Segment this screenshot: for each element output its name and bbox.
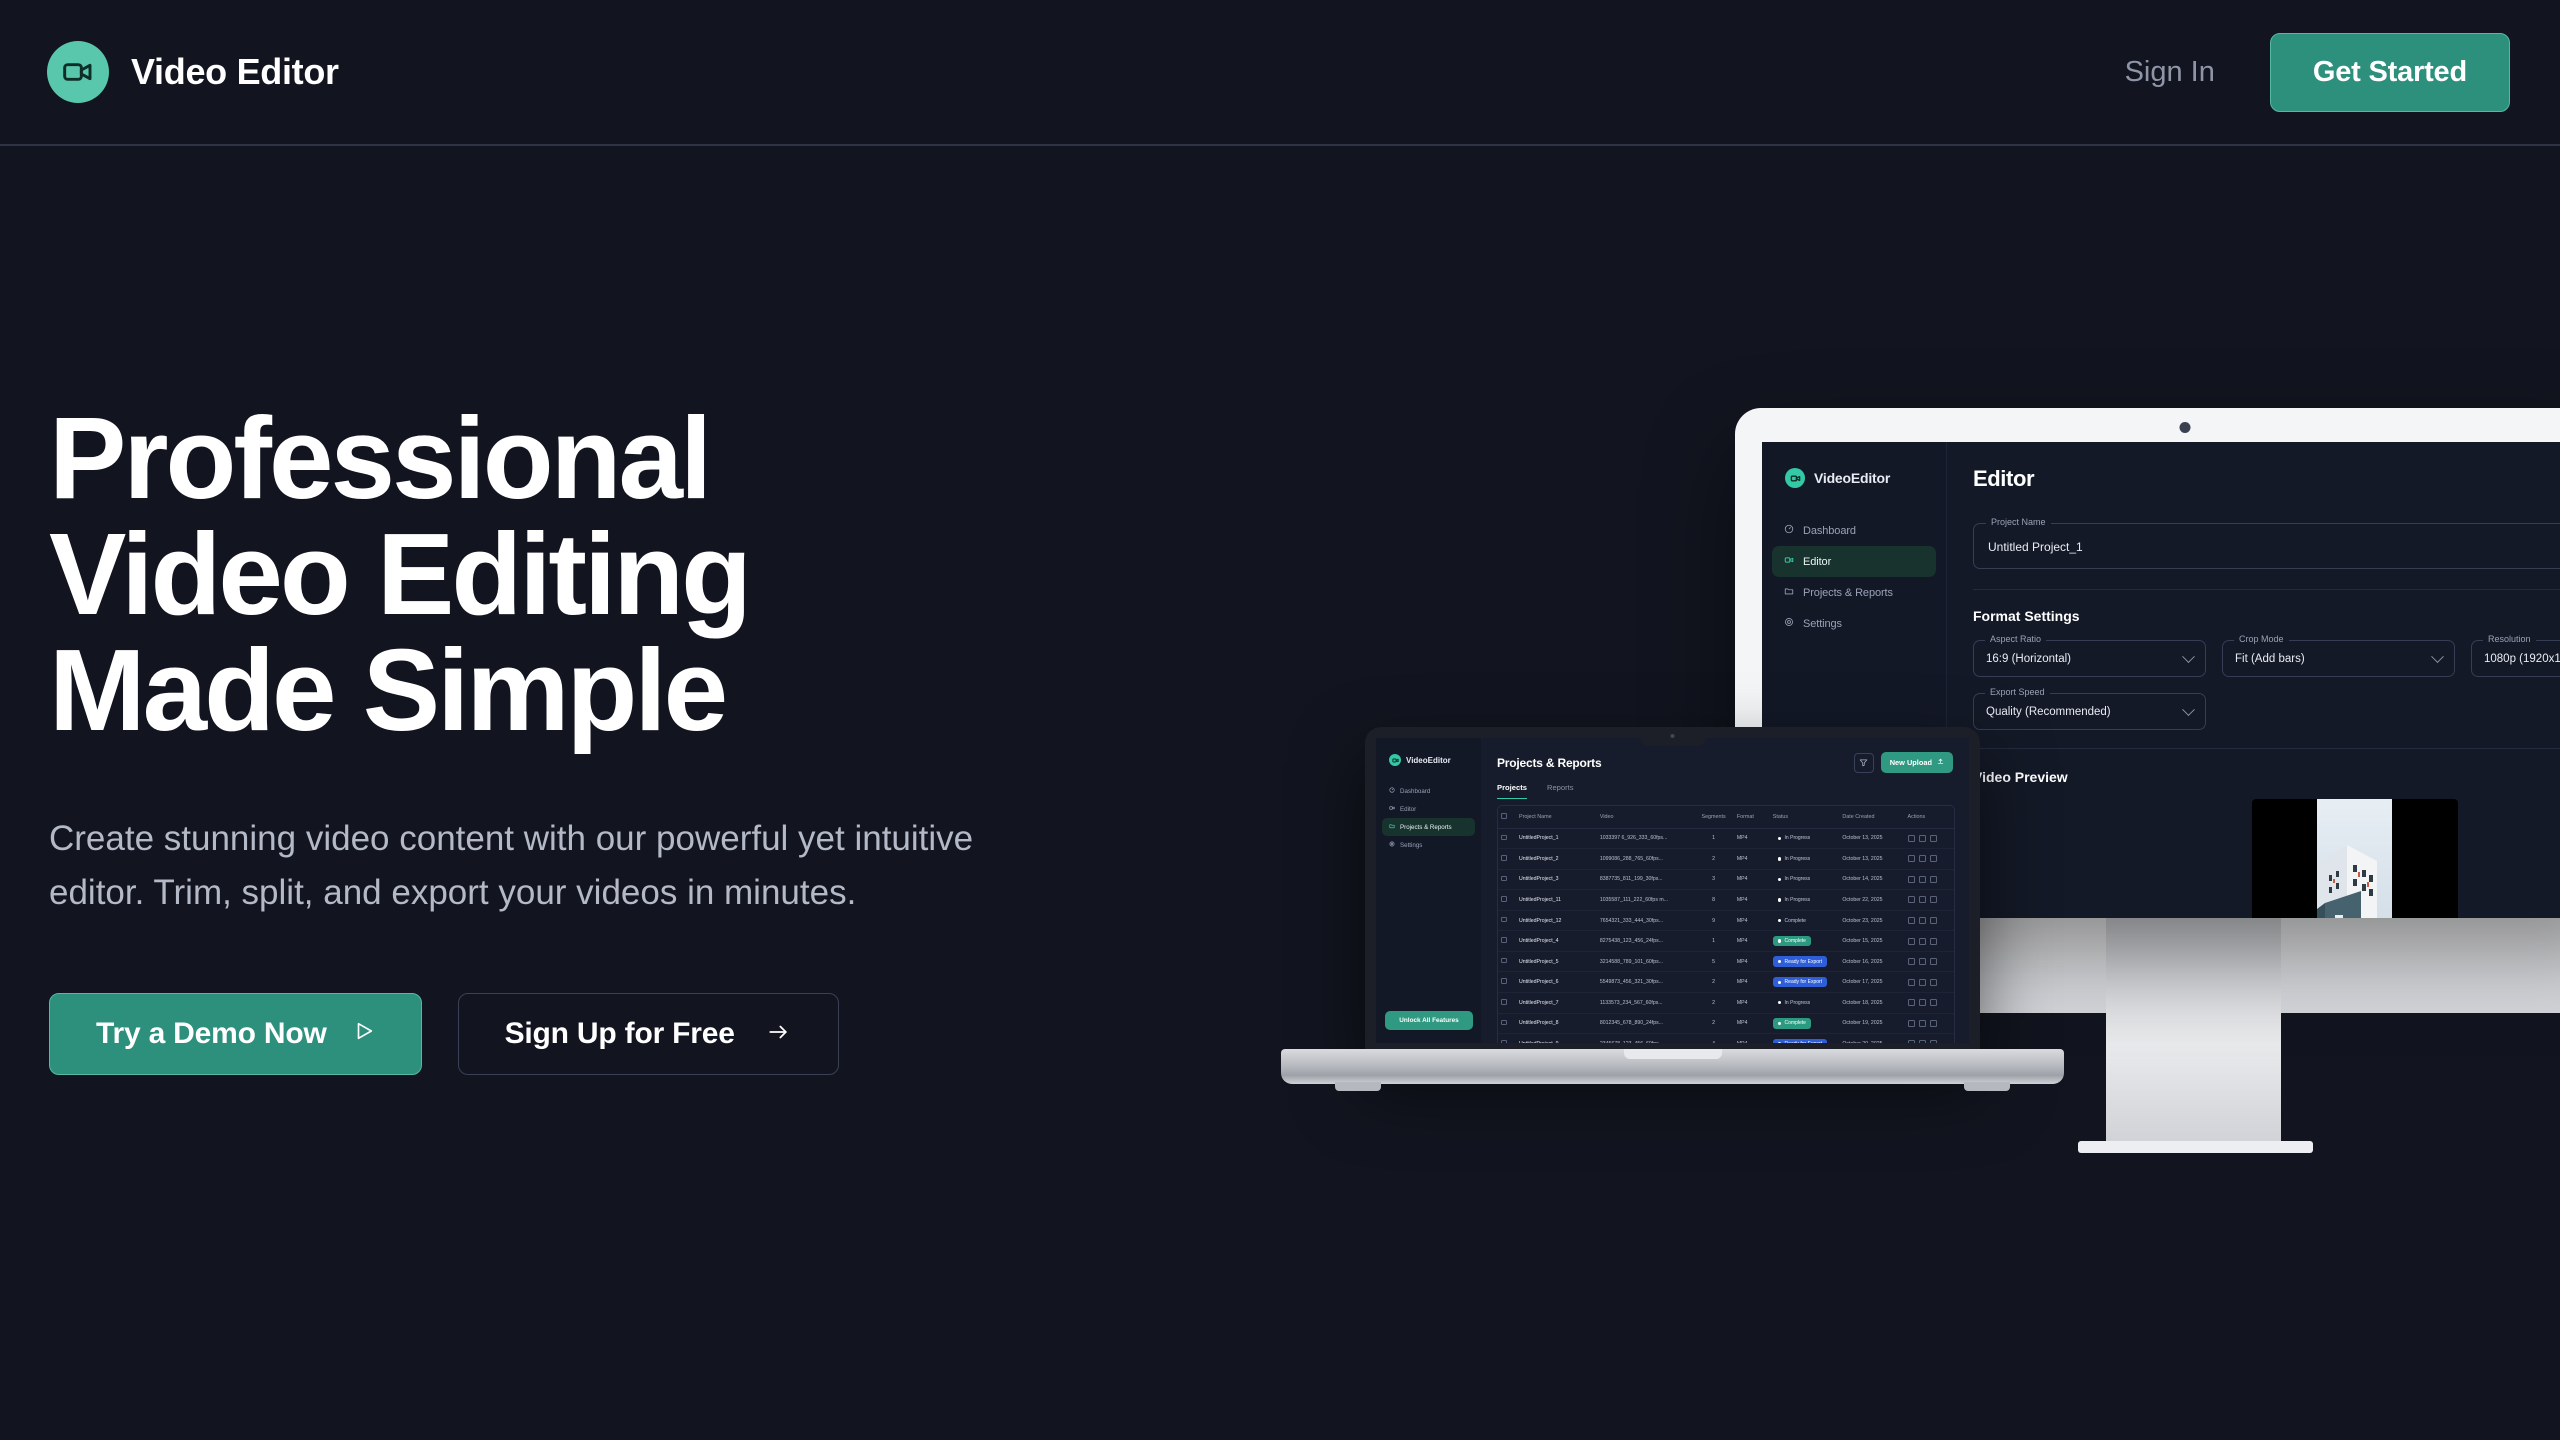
gear-icon (1784, 617, 1794, 630)
cell-status: In Progress (1770, 828, 1840, 849)
edit-icon[interactable] (1908, 938, 1915, 945)
delete-icon[interactable] (1930, 1040, 1937, 1043)
cell-actions[interactable] (1905, 1034, 1954, 1043)
cell-date-created: October 16, 2025 (1839, 951, 1904, 972)
arrow-right-icon (765, 1017, 792, 1051)
folder-icon (1784, 586, 1794, 599)
export-icon[interactable] (1919, 855, 1926, 862)
checkbox-icon[interactable] (1501, 1020, 1507, 1026)
cell-format: MP4 (1734, 972, 1770, 993)
export-icon[interactable] (1919, 938, 1926, 945)
cell-format: MP4 (1734, 849, 1770, 870)
row-checkbox[interactable] (1498, 828, 1516, 849)
funnel-icon[interactable] (1854, 753, 1874, 773)
edit-icon[interactable] (1908, 876, 1915, 883)
cell-video: 7654321_333_444_30fps... (1597, 910, 1694, 931)
hero-cta-row: Try a Demo Now Sign Up for Free (49, 993, 1109, 1075)
chevron-down-icon (2431, 650, 2444, 663)
cell-segments: 2 (1693, 1013, 1733, 1034)
video-camera-icon (1784, 555, 1794, 568)
sidebar-label: Editor (1400, 806, 1416, 813)
cell-project-name: UntitledProject_11 (1516, 890, 1597, 911)
row-checkbox[interactable] (1498, 951, 1516, 972)
aspect-ratio-value: 16:9 (Horizontal) (1986, 653, 2071, 665)
status-badge: Ready for Export (1773, 956, 1827, 966)
crop-mode-value: Fit (Add bars) (2235, 653, 2305, 665)
sidebar-item-settings[interactable]: Settings (1382, 836, 1475, 854)
resolution-select[interactable]: Resolution 1080p (1920x1080) (2471, 640, 2560, 677)
cell-project-name: UntitledProject_2 (1516, 849, 1597, 870)
sidebar-label: Settings (1803, 618, 1842, 630)
crop-mode-select[interactable]: Crop Mode Fit (Add bars) (2222, 640, 2455, 677)
checkbox-icon[interactable] (1501, 813, 1507, 819)
delete-icon[interactable] (1930, 835, 1937, 842)
projects-tabs: Projects Reports (1497, 783, 1953, 799)
get-started-button[interactable]: Get Started (2270, 33, 2510, 112)
tab-projects[interactable]: Projects (1497, 783, 1527, 799)
sidebar-label: Dashboard (1803, 525, 1856, 537)
cell-segments: 1 (1693, 828, 1733, 849)
status-dot-icon (1778, 1001, 1781, 1004)
cell-status: In Progress (1770, 849, 1840, 870)
laptop-feet (1281, 1082, 2064, 1091)
cell-actions[interactable] (1905, 910, 1954, 931)
row-checkbox[interactable] (1498, 1013, 1516, 1034)
sidebar-label: Projects & Reports (1400, 824, 1452, 831)
cell-project-name: UntitledProject_6 (1516, 972, 1597, 993)
cell-date-created: October 20, 2025 (1839, 1034, 1904, 1043)
projects-brand: VideoEditor (1376, 738, 1481, 766)
cell-segments: 5 (1693, 951, 1733, 972)
edit-icon[interactable] (1908, 958, 1915, 965)
cell-date-created: October 22, 2025 (1839, 890, 1904, 911)
cell-video: 1099086_288_765_60fps... (1597, 849, 1694, 870)
export-icon[interactable] (1919, 1040, 1926, 1043)
sidebar-item-dashboard[interactable]: Dashboard (1772, 515, 1936, 546)
cell-date-created: October 13, 2025 (1839, 828, 1904, 849)
try-demo-label: Try a Demo Now (96, 1017, 327, 1051)
status-dot-icon (1778, 857, 1781, 860)
cell-format: MP4 (1734, 828, 1770, 849)
cell-video: 3214588_789_101_60fps... (1597, 951, 1694, 972)
hero-subtitle: Create stunning video content with our p… (49, 812, 1109, 921)
projects-main: Projects & Reports New Upload (1481, 738, 1969, 1043)
cell-actions[interactable] (1905, 1013, 1954, 1034)
folder-icon (1389, 823, 1395, 831)
projects-table-body: UntitledProject_11033397 6_926_333_60fps… (1498, 828, 1954, 1043)
table-row[interactable]: UntitledProject_88012345_678_890_24fps..… (1498, 1013, 1954, 1034)
crop-mode-label: Crop Mode (2234, 634, 2289, 644)
export-icon[interactable] (1919, 999, 1926, 1006)
cell-status: Ready for Export (1770, 972, 1840, 993)
checkbox-icon[interactable] (1501, 896, 1507, 902)
table-row[interactable]: UntitledProject_71133573_234_567_60fps..… (1498, 993, 1954, 1014)
export-icon[interactable] (1919, 917, 1926, 924)
projects-topbar: Projects & Reports New Upload (1481, 738, 1969, 773)
status-badge: In Progress (1773, 854, 1815, 864)
cell-format: MP4 (1734, 890, 1770, 911)
monitor-stand-neck (2106, 918, 2281, 1148)
cell-status: Complete (1770, 1013, 1840, 1034)
cell-actions[interactable] (1905, 869, 1954, 890)
row-checkbox[interactable] (1498, 869, 1516, 890)
cell-video: 2345678_123_456_60fps... (1597, 1034, 1694, 1043)
laptop-base-notch (1624, 1049, 1722, 1059)
col-segments[interactable]: Segments (1693, 806, 1733, 828)
export-icon[interactable] (1919, 835, 1926, 842)
col-status[interactable]: Status (1770, 806, 1840, 828)
cell-segments: 9 (1693, 910, 1733, 931)
cell-status: In Progress (1770, 869, 1840, 890)
status-dot-icon (1778, 1042, 1781, 1043)
checkbox-icon[interactable] (1501, 958, 1507, 964)
projects-nav: Dashboard Editor Projects & Reports Sett… (1376, 782, 1481, 854)
delete-icon[interactable] (1930, 938, 1937, 945)
cell-actions[interactable] (1905, 972, 1954, 993)
export-icon[interactable] (1919, 958, 1926, 965)
status-dot-icon (1778, 919, 1781, 922)
sign-up-free-button[interactable]: Sign Up for Free (458, 993, 839, 1075)
cell-segments: 2 (1693, 972, 1733, 993)
video-camera-icon (1785, 468, 1805, 488)
video-preview-title: Video Preview (1973, 769, 2068, 785)
editor-nav: Dashboard Editor Projects & Reports (1762, 515, 1946, 639)
projects-table: Project Name Video Segments Format Statu… (1498, 806, 1954, 1043)
checkbox-icon[interactable] (1501, 855, 1507, 861)
header-actions: Sign In Get Started (2125, 33, 2510, 112)
cell-actions[interactable] (1905, 931, 1954, 952)
edit-icon[interactable] (1908, 917, 1915, 924)
cell-segments: 1 (1693, 931, 1733, 952)
video-camera-icon (47, 41, 109, 103)
unlock-all-features-button[interactable]: Unlock All Features (1385, 1011, 1473, 1030)
table-row[interactable]: UntitledProject_21099086_288_765_60fps..… (1498, 849, 1954, 870)
sign-in-link[interactable]: Sign In (2125, 56, 2215, 89)
sidebar-label: Projects & Reports (1803, 587, 1893, 599)
checkbox-icon[interactable] (1501, 999, 1507, 1005)
status-badge: In Progress (1773, 998, 1815, 1008)
edit-icon[interactable] (1908, 1040, 1915, 1043)
cell-project-name: UntitledProject_7 (1516, 993, 1597, 1014)
delete-icon[interactable] (1930, 855, 1937, 862)
cell-project-name: UntitledProject_4 (1516, 931, 1597, 952)
cell-status: Ready for Export (1770, 951, 1840, 972)
col-date-created[interactable]: Date Created (1839, 806, 1904, 828)
status-dot-icon (1778, 1022, 1781, 1025)
sidebar-item-editor[interactable]: Editor (1382, 800, 1475, 818)
status-dot-icon (1778, 939, 1781, 942)
play-triangle-icon (353, 1017, 375, 1051)
cell-format: MP4 (1734, 1013, 1770, 1034)
cell-actions[interactable] (1905, 993, 1954, 1014)
resolution-value: 1080p (1920x1080) (2484, 653, 2560, 665)
checkbox-icon[interactable] (1501, 937, 1507, 943)
cell-actions[interactable] (1905, 890, 1954, 911)
project-name-label: Project Name (1986, 517, 2051, 527)
table-row[interactable]: UntitledProject_11033397 6_926_333_60fps… (1498, 828, 1954, 849)
sidebar-label: Dashboard (1400, 788, 1430, 795)
site-header: Video Editor Sign In Get Started (0, 0, 2560, 146)
project-name-value: Untitled Project_1 (1988, 540, 2083, 554)
delete-icon[interactable] (1930, 896, 1937, 903)
status-dot-icon (1778, 837, 1781, 840)
row-checkbox[interactable] (1498, 993, 1516, 1014)
table-row[interactable]: UntitledProject_48275438_123_456_24fps..… (1498, 931, 1954, 952)
status-dot-icon (1778, 878, 1781, 881)
sidebar-item-projects-reports[interactable]: Projects & Reports (1382, 818, 1475, 836)
col-project-name[interactable]: Project Name (1516, 806, 1597, 828)
format-settings-selects: Aspect Ratio 16:9 (Horizontal) Crop Mode… (1973, 640, 2560, 730)
sidebar-item-settings[interactable]: Settings (1772, 608, 1936, 639)
divider (1973, 748, 2560, 749)
video-preview-header: Video Preview Video player size (1973, 769, 2560, 785)
sidebar-item-editor[interactable]: Editor (1772, 546, 1936, 577)
cell-status: In Progress (1770, 993, 1840, 1014)
aspect-ratio-label: Aspect Ratio (1985, 634, 2046, 644)
cell-segments: 4 (1693, 1034, 1733, 1043)
editor-page-title: Editor (1973, 466, 2034, 492)
export-icon[interactable] (1919, 979, 1926, 986)
cell-video: 1033397 6_926_333_60fps... (1597, 828, 1694, 849)
row-checkbox[interactable] (1498, 972, 1516, 993)
projects-sidebar: VideoEditor Dashboard Editor Projects & … (1376, 738, 1481, 1043)
cell-format: MP4 (1734, 931, 1770, 952)
cell-video: 8012345_678_890_24fps... (1597, 1013, 1694, 1034)
gear-icon (1389, 841, 1395, 849)
monitor-camera-icon (2180, 422, 2191, 433)
project-name-field[interactable]: Project Name Untitled Project_1 (1973, 523, 2560, 569)
sidebar-item-projects-reports[interactable]: Projects & Reports (1772, 577, 1936, 608)
gauge-icon (1784, 524, 1794, 537)
sidebar-label: Editor (1803, 556, 1831, 568)
projects-table-wrap: Project Name Video Segments Format Statu… (1497, 805, 1955, 1043)
table-row[interactable]: UntitledProject_127654321_333_444_30fps.… (1498, 910, 1954, 931)
cell-format: MP4 (1734, 1034, 1770, 1043)
editor-brand: VideoEditor (1762, 442, 1946, 488)
cell-actions[interactable] (1905, 849, 1954, 870)
cell-segments: 8 (1693, 890, 1733, 911)
cell-project-name: UntitledProject_9 (1516, 1034, 1597, 1043)
row-checkbox[interactable] (1498, 890, 1516, 911)
col-format[interactable]: Format (1734, 806, 1770, 828)
editor-topbar: Editor Save Exp (1947, 442, 2560, 501)
try-demo-button[interactable]: Try a Demo Now (49, 993, 422, 1075)
brand-name: Video Editor (131, 51, 339, 93)
checkbox-icon[interactable] (1501, 1040, 1507, 1043)
row-checkbox[interactable] (1498, 910, 1516, 931)
divider (1973, 589, 2560, 590)
table-row[interactable]: UntitledProject_92345678_123_456_60fps..… (1498, 1034, 1954, 1043)
status-badge: Ready for Export (1773, 977, 1827, 987)
col-video[interactable]: Video (1597, 806, 1694, 828)
projects-brand-label: VideoEditor (1406, 756, 1451, 765)
video-camera-icon (1389, 754, 1401, 766)
status-dot-icon (1778, 981, 1781, 984)
format-settings-title: Format Settings (1973, 608, 2560, 624)
export-icon[interactable] (1919, 876, 1926, 883)
col-select-all[interactable] (1498, 806, 1516, 828)
cell-status: Ready for Export (1770, 1034, 1840, 1043)
table-row[interactable]: UntitledProject_38387735_811_199_30fps..… (1498, 869, 1954, 890)
delete-icon[interactable] (1930, 876, 1937, 883)
status-badge: In Progress (1773, 833, 1815, 843)
delete-icon[interactable] (1930, 1020, 1937, 1027)
hero-copy: Professional Video Editing Made Simple C… (49, 400, 1109, 1075)
cell-project-name: UntitledProject_5 (1516, 951, 1597, 972)
cell-date-created: October 19, 2025 (1839, 1013, 1904, 1034)
video-camera-icon (1389, 805, 1395, 813)
export-icon[interactable] (1919, 896, 1926, 903)
delete-icon[interactable] (1930, 999, 1937, 1006)
tab-reports[interactable]: Reports (1547, 783, 1574, 799)
cell-video: 1035587_111_222_60fps m... (1597, 890, 1694, 911)
cell-date-created: October 14, 2025 (1839, 869, 1904, 890)
cell-project-name: UntitledProject_1 (1516, 828, 1597, 849)
table-row[interactable]: UntitledProject_65549873_456_321_30fps..… (1498, 972, 1954, 993)
cell-project-name: UntitledProject_8 (1516, 1013, 1597, 1034)
checkbox-icon[interactable] (1501, 978, 1507, 984)
gauge-icon (1389, 787, 1395, 795)
projects-page-title: Projects & Reports (1497, 756, 1601, 770)
table-header-row: Project Name Video Segments Format Statu… (1498, 806, 1954, 828)
cell-video: 5549873_456_321_30fps... (1597, 972, 1694, 993)
projects-top-actions: New Upload (1854, 752, 1953, 773)
edit-icon[interactable] (1908, 999, 1915, 1006)
edit-icon[interactable] (1908, 835, 1915, 842)
status-dot-icon (1778, 898, 1781, 901)
table-row[interactable]: UntitledProject_111035587_111_222_60fps … (1498, 890, 1954, 911)
cell-project-name: UntitledProject_3 (1516, 869, 1597, 890)
cell-video: 1133573_234_567_60fps... (1597, 993, 1694, 1014)
sidebar-label: Settings (1400, 842, 1422, 849)
cell-format: MP4 (1734, 910, 1770, 931)
cell-segments: 2 (1693, 993, 1733, 1014)
row-checkbox[interactable] (1498, 931, 1516, 952)
cell-segments: 2 (1693, 849, 1733, 870)
edit-icon[interactable] (1908, 896, 1915, 903)
cell-status: In Progress (1770, 890, 1840, 911)
laptop-device: VideoEditor Dashboard Editor Projects & … (1365, 727, 1980, 1072)
delete-icon[interactable] (1930, 917, 1937, 924)
status-badge: Complete (1773, 1018, 1811, 1028)
cell-format: MP4 (1734, 951, 1770, 972)
delete-icon[interactable] (1930, 979, 1937, 986)
chevron-down-icon (2182, 650, 2195, 663)
status-badge: Complete (1773, 915, 1811, 925)
page-title: Professional Video Editing Made Simple (49, 400, 1109, 748)
cell-status: Complete (1770, 931, 1840, 952)
checkbox-icon[interactable] (1501, 917, 1507, 923)
resolution-label: Resolution (2483, 634, 2536, 644)
cell-video: 8387735_811_199_30fps... (1597, 869, 1694, 890)
cell-status: Complete (1770, 910, 1840, 931)
brand-logo[interactable]: Video Editor (47, 41, 339, 103)
cell-format: MP4 (1734, 869, 1770, 890)
cell-segments: 3 (1693, 869, 1733, 890)
checkbox-icon[interactable] (1501, 876, 1507, 882)
monitor-stand-foot (2078, 1141, 2313, 1153)
chevron-down-icon (2182, 703, 2195, 716)
editor-brand-label: VideoEditor (1814, 470, 1890, 486)
cell-date-created: October 17, 2025 (1839, 972, 1904, 993)
status-badge: Complete (1773, 936, 1811, 946)
new-upload-label: New Upload (1890, 758, 1932, 767)
table-row[interactable]: UntitledProject_53214588_789_101_60fps..… (1498, 951, 1954, 972)
cell-video: 8275438_123_456_24fps... (1597, 931, 1694, 952)
status-badge: In Progress (1773, 874, 1815, 884)
export-speed-label: Export Speed (1985, 687, 2050, 697)
video-frame-thumbnail (2317, 799, 2392, 918)
sign-up-free-label: Sign Up for Free (505, 1017, 735, 1051)
cell-actions[interactable] (1905, 828, 1954, 849)
export-icon[interactable] (1919, 1020, 1926, 1027)
checkbox-icon[interactable] (1501, 835, 1507, 841)
laptop-screen: VideoEditor Dashboard Editor Projects & … (1376, 738, 1969, 1043)
delete-icon[interactable] (1930, 958, 1937, 965)
upload-icon (1937, 758, 1944, 767)
sidebar-item-dashboard[interactable]: Dashboard (1382, 782, 1475, 800)
export-speed-select[interactable]: Export Speed Quality (Recommended) (1973, 693, 2206, 730)
edit-icon[interactable] (1908, 855, 1915, 862)
cell-date-created: October 15, 2025 (1839, 931, 1904, 952)
video-player[interactable] (2252, 799, 2458, 918)
edit-icon[interactable] (1908, 979, 1915, 986)
cell-date-created: October 23, 2025 (1839, 910, 1904, 931)
cell-date-created: October 13, 2025 (1839, 849, 1904, 870)
col-actions: Actions (1905, 806, 1954, 828)
editor-main: Editor Save Exp Projec (1947, 442, 2560, 918)
cell-actions[interactable] (1905, 951, 1954, 972)
edit-icon[interactable] (1908, 1020, 1915, 1027)
status-badge: Ready for Export (1773, 1039, 1827, 1043)
new-upload-button[interactable]: New Upload (1881, 752, 1953, 773)
export-speed-value: Quality (Recommended) (1986, 706, 2111, 718)
cell-date-created: October 18, 2025 (1839, 993, 1904, 1014)
cell-format: MP4 (1734, 993, 1770, 1014)
laptop-notch (1640, 727, 1705, 746)
cell-project-name: UntitledProject_12 (1516, 910, 1597, 931)
status-dot-icon (1778, 960, 1781, 963)
aspect-ratio-select[interactable]: Aspect Ratio 16:9 (Horizontal) (1973, 640, 2206, 677)
row-checkbox[interactable] (1498, 849, 1516, 870)
status-badge: In Progress (1773, 895, 1815, 905)
row-checkbox[interactable] (1498, 1034, 1516, 1043)
